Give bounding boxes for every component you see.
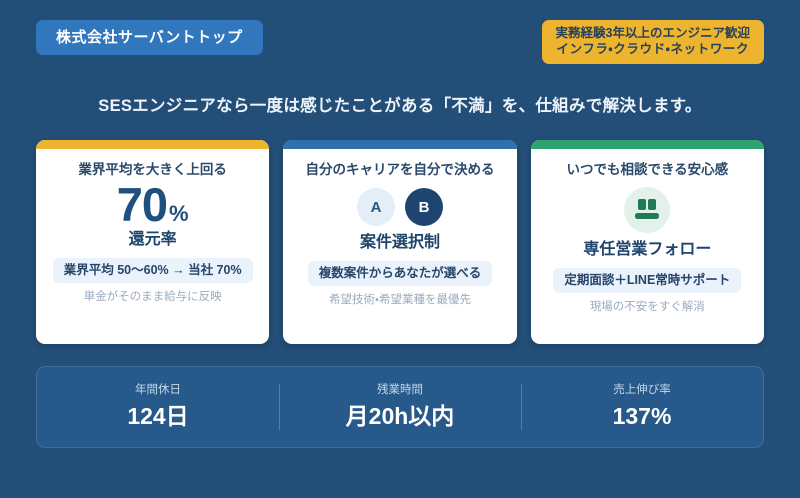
support-team-icon — [624, 187, 670, 233]
card-project-choice-footnote: 希望技術・希望業種を最優先 — [329, 294, 471, 308]
stat-overtime: 残業時間 月20h以内 — [279, 380, 521, 433]
card-revenue-share-title: 還元率 — [129, 230, 177, 249]
card-revenue-share-unit: % — [169, 201, 189, 227]
card-project-choice-title: 案件選択制 — [360, 233, 440, 252]
card-revenue-share-value: 70 — [117, 180, 167, 229]
header: 株式会社サーバントトップ 実務経験3年以上のエンジニア歓迎 インフラ・クラウド・… — [36, 20, 764, 70]
card-revenue-share: 業界平均を大きく上回る 70 % 還元率 業界平均 50〜60% → 当社 70… — [36, 140, 269, 344]
card-project-choice-body: 自分のキャリアを自分で決める A B 案件選択制 複数案件からあなたが選べる 希… — [283, 149, 516, 344]
card-project-choice: 自分のキャリアを自分で決める A B 案件選択制 複数案件からあなたが選べる 希… — [283, 140, 516, 344]
card-revenue-share-metric: 70 % — [117, 180, 189, 229]
card-sales-support-title: 専任営業フォロー — [583, 240, 711, 259]
card-revenue-share-footnote: 単金がそのまま給与に反映 — [84, 291, 222, 305]
card-sales-support-body: いつでも相談できる安心感 専任営業フォロー 定期面談＋LINE常時サポート 現場… — [531, 149, 764, 344]
card-accent-bar-blue — [283, 140, 516, 149]
option-circles: A B — [357, 188, 443, 226]
card-sales-support-chip: 定期面談＋LINE常時サポート — [553, 268, 741, 293]
stat-holidays-label: 年間休日 — [37, 384, 279, 398]
target-audience-badge: 実務経験3年以上のエンジニア歓迎 インフラ・クラウド・ネットワーク — [542, 20, 764, 64]
slide-root: 株式会社サーバントトップ 実務経験3年以上のエンジニア歓迎 インフラ・クラウド・… — [0, 0, 800, 498]
target-badge-line1: 実務経験3年以上のエンジニア歓迎 — [556, 26, 750, 42]
card-revenue-share-body: 業界平均を大きく上回る 70 % 還元率 業界平均 50〜60% → 当社 70… — [36, 149, 269, 344]
card-sales-support-lead: いつでも相談できる安心感 — [566, 162, 728, 178]
card-accent-bar-green — [531, 140, 764, 149]
page-headline: SESエンジニアなら一度は感じたことがある「不満」を、仕組みで解決します。 — [36, 92, 764, 116]
card-sales-support: いつでも相談できる安心感 専任営業フォロー 定期面談＋LINE常時サポート 現場… — [531, 140, 764, 344]
stat-revenue-growth-value: 137% — [521, 403, 763, 429]
stat-holidays: 年間休日 124日 — [37, 380, 279, 433]
company-name-chip: 株式会社サーバントトップ — [36, 20, 263, 55]
stat-revenue-growth: 売上伸び率 137% — [521, 380, 763, 433]
stats-bar: 年間休日 124日 残業時間 月20h以内 売上伸び率 137% — [36, 366, 764, 448]
feature-cards: 業界平均を大きく上回る 70 % 還元率 業界平均 50〜60% → 当社 70… — [36, 140, 764, 344]
stat-holidays-value: 124日 — [37, 403, 279, 429]
option-b-circle: B — [405, 188, 443, 226]
card-project-choice-chip: 複数案件からあなたが選べる — [308, 261, 493, 286]
card-revenue-share-chip: 業界平均 50〜60% → 当社 70% — [53, 258, 253, 283]
card-sales-support-footnote: 現場の不安をすぐ解消 — [590, 301, 705, 315]
card-revenue-share-lead: 業界平均を大きく上回る — [78, 162, 227, 178]
option-a-circle: A — [357, 188, 395, 226]
card-accent-bar-amber — [36, 140, 269, 149]
stat-revenue-growth-label: 売上伸び率 — [521, 384, 763, 398]
card-project-choice-lead: 自分のキャリアを自分で決める — [305, 162, 494, 178]
stat-overtime-label: 残業時間 — [279, 384, 521, 398]
target-badge-line2: インフラ・クラウド・ネットワーク — [556, 42, 750, 58]
stat-overtime-value: 月20h以内 — [279, 403, 521, 429]
